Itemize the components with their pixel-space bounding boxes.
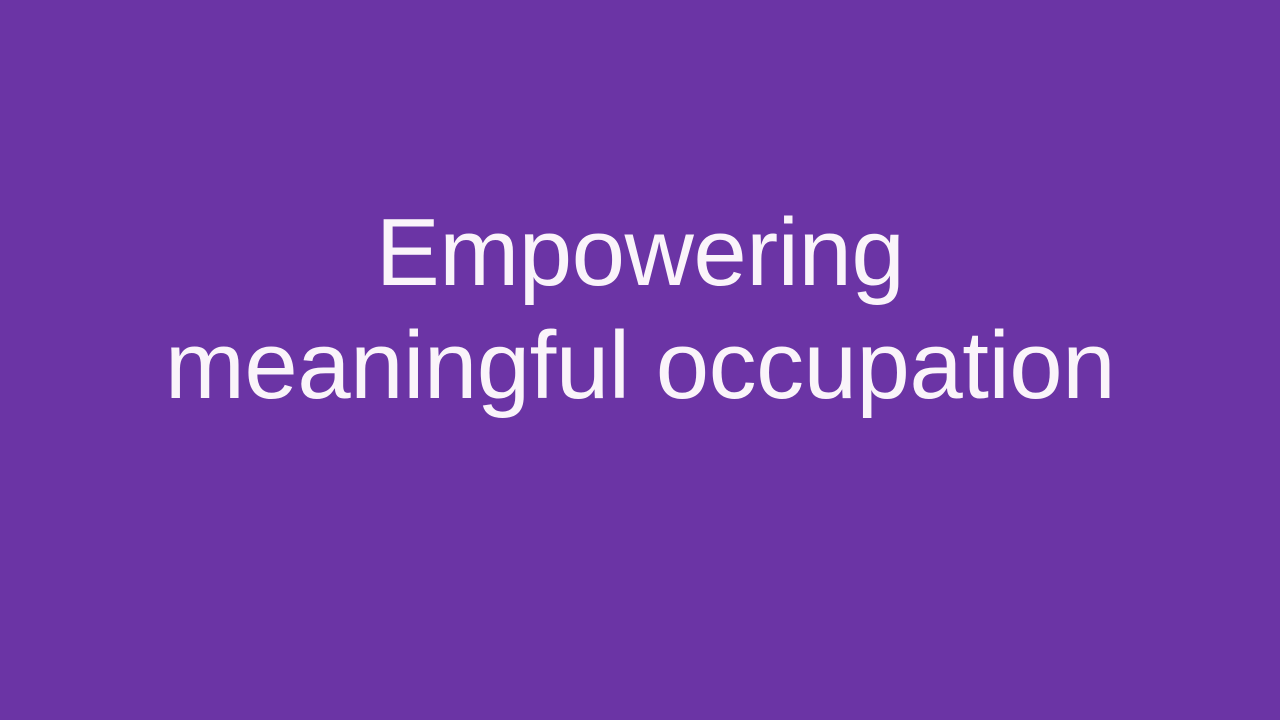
slide-canvas: Empowering meaningful occupation (0, 0, 1280, 720)
slide-title-line-1: Empowering (40, 196, 1240, 309)
slide-title-block: Empowering meaningful occupation (0, 196, 1280, 422)
slide-title-line-2: meaningful occupation (40, 309, 1240, 422)
